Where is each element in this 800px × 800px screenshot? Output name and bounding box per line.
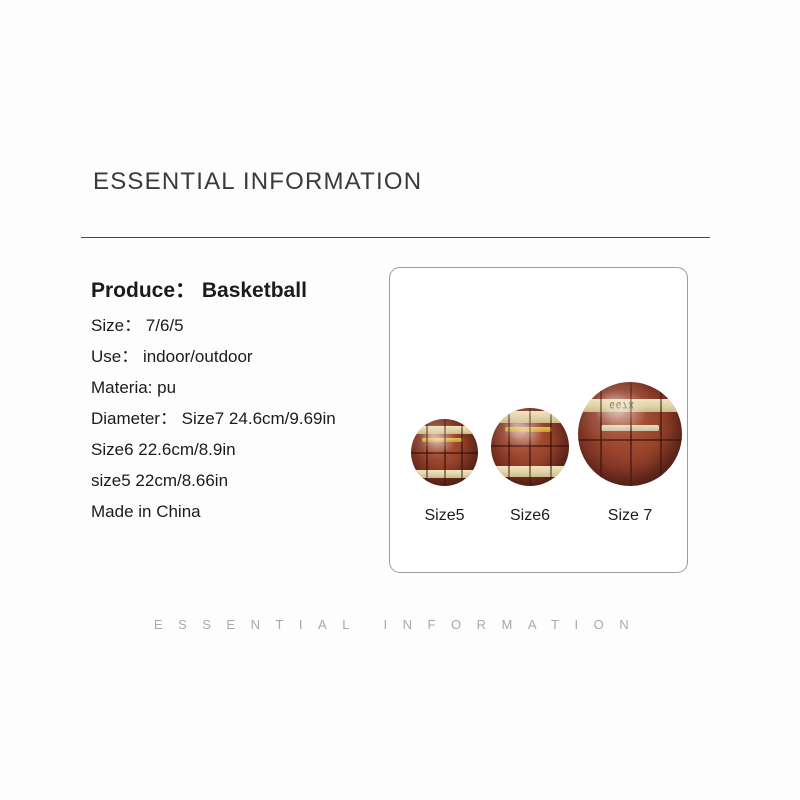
- basketball-size7-sphere: GG7X: [578, 382, 682, 486]
- spec-line-size: Size： 7/6/5: [91, 310, 381, 341]
- product-image-panel: GG7X Size5 Size6 Size 7: [389, 267, 688, 573]
- footer-text: ESSENTIAL INFORMATION: [81, 617, 717, 632]
- basketball-caption-size5: Size5: [411, 507, 478, 525]
- basketball-size6: [491, 408, 569, 486]
- spec-line-use: Use： indoor/outdoor: [91, 341, 381, 372]
- basketball-group: GG7X: [390, 356, 687, 486]
- basketball-caption-size7: Size 7: [578, 507, 682, 525]
- basketball-size6-sphere: [491, 408, 569, 486]
- header-divider: [81, 237, 710, 238]
- basketball-size5: [411, 419, 478, 486]
- specification-list: Produce： Basketball Size： 7/6/5 Use： ind…: [91, 274, 381, 527]
- basketball-size5-sphere: [411, 419, 478, 486]
- basketball-size7: GG7X: [578, 382, 682, 486]
- spec-line-diameter-size7: Diameter： Size7 24.6cm/9.69in: [91, 403, 381, 434]
- spec-line-product: Produce： Basketball: [91, 274, 381, 308]
- page-title: ESSENTIAL INFORMATION: [93, 168, 422, 196]
- spec-line-diameter-size6: Size6 22.6cm/8.9in: [91, 434, 381, 465]
- basketball-caption-size6: Size6: [491, 507, 569, 525]
- spec-line-origin: Made in China: [91, 496, 381, 527]
- spec-line-material: Materia: pu: [91, 372, 381, 403]
- spec-line-diameter-size5: size5 22cm/8.66in: [91, 465, 381, 496]
